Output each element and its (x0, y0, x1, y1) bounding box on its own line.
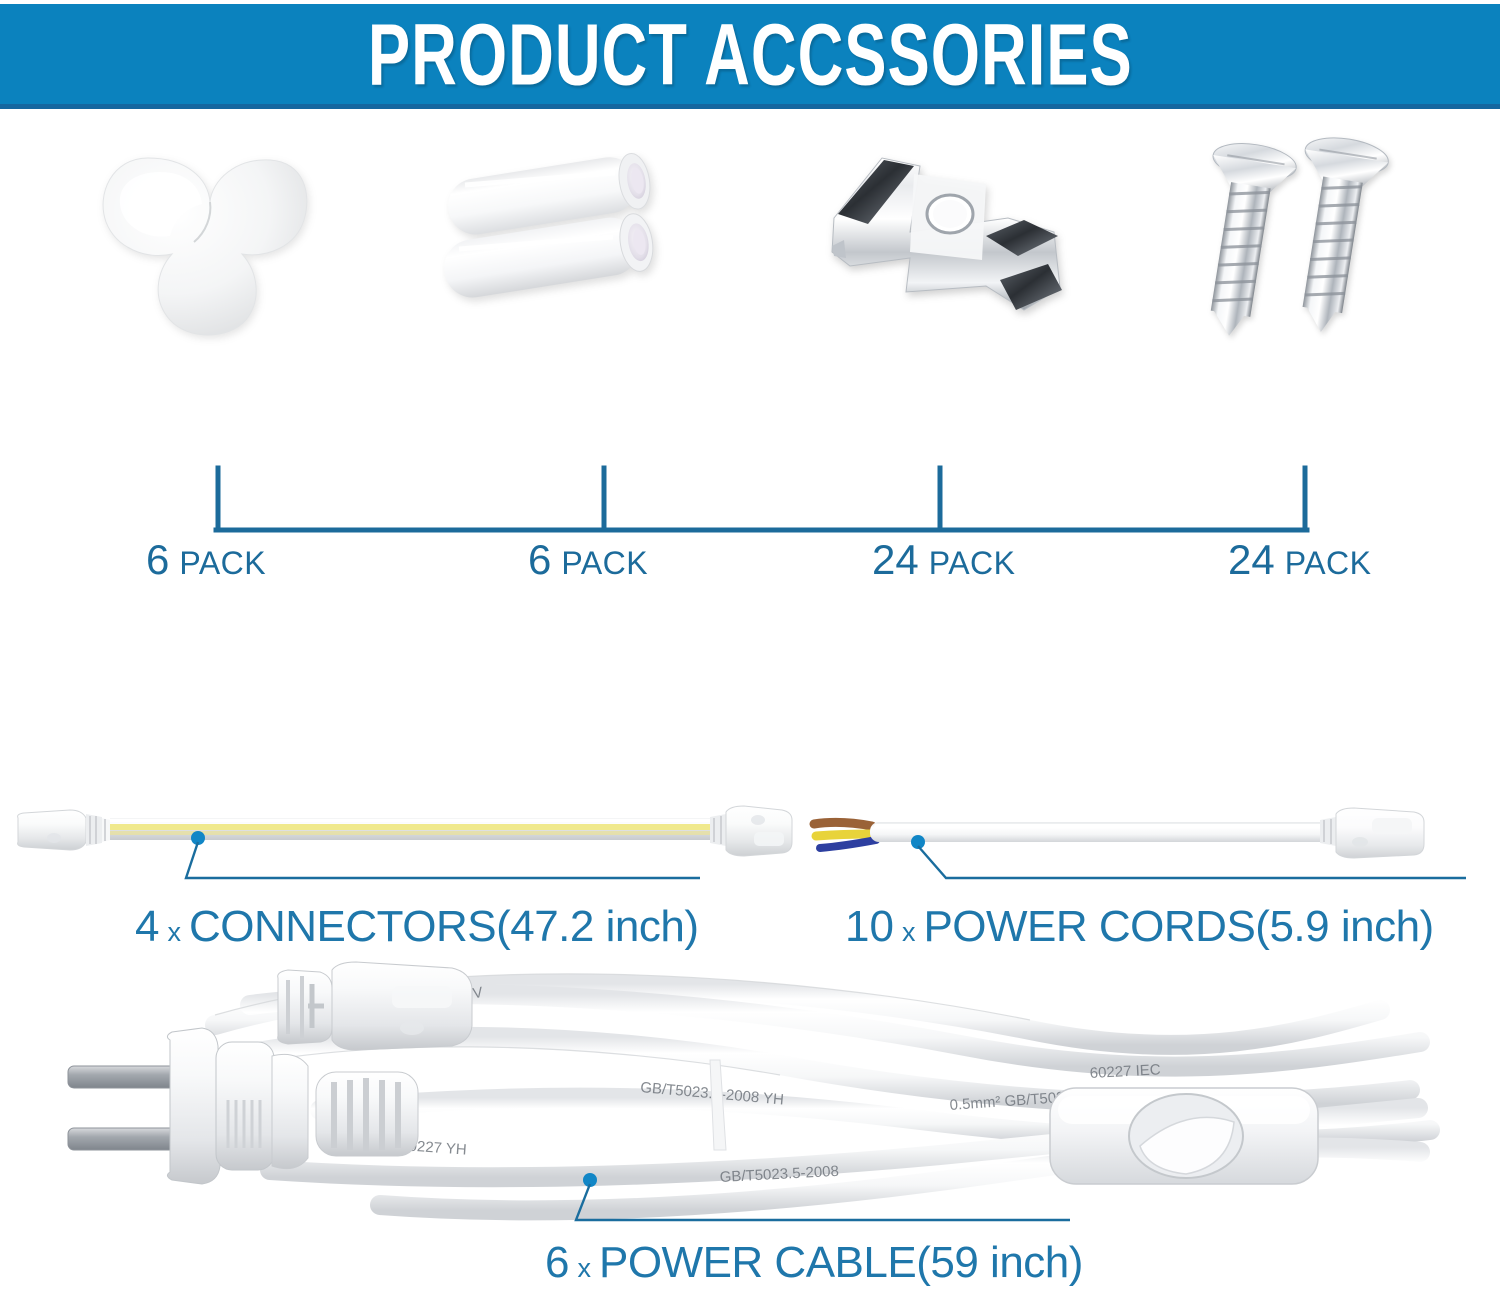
yellow-wire (816, 834, 874, 836)
blue-wire (820, 840, 876, 848)
pack-labels-row: 6 PACK 6 PACK 24 PACK 24 PACK (0, 536, 1500, 596)
connector-head-right (710, 806, 792, 856)
connectors-label: CONNECTORS(47.2 inch) (189, 902, 699, 952)
pack-quantity: 6 (146, 536, 169, 584)
pack-unit: PACK (179, 545, 266, 582)
pack-bracket (0, 460, 1500, 540)
power-cable-icon: 2x0.5mm² 300/300V GB/T5023.5-2008 YH 0.5… (20, 970, 1480, 1230)
bracket-lines-icon (0, 460, 1500, 540)
pack-quantity: 24 (872, 536, 919, 584)
power-cords-multiplier: x (902, 917, 916, 948)
product-accessories-page: PRODUCT ACCSSORIES (0, 0, 1500, 1307)
pack-unit: PACK (929, 545, 1016, 582)
parts-row (0, 125, 1500, 465)
tube-connector-image (435, 125, 765, 455)
part-cell-metal-clip (800, 125, 1130, 455)
pack-label-trefoil-clip: 6 PACK (146, 536, 266, 584)
connector-head-left (18, 810, 110, 850)
power-cord-icon (800, 790, 1490, 900)
trefoil-clip-image (60, 125, 390, 455)
part-cell-trefoil-clip (60, 125, 390, 455)
screws-image (1165, 125, 1495, 455)
trefoil-clip-icon (90, 150, 312, 340)
part-cell-screws (1165, 125, 1495, 455)
connectors-multiplier: x (167, 917, 181, 948)
svg-text:60227 IEC: 60227 IEC (1089, 1061, 1161, 1082)
power-cord-head-right (1320, 808, 1424, 858)
page-title: PRODUCT ACCSSORIES (368, 4, 1133, 104)
cable-row-middle: 4 x CONNECTORS(47.2 inch) 10 x POWER COR… (0, 780, 1500, 960)
metal-clip-image (800, 125, 1130, 455)
strain-relief (316, 1072, 418, 1156)
socket-connectors (278, 962, 472, 1050)
pack-label-metal-clip: 24 PACK (872, 536, 1015, 584)
cable-row-bottom: 2x0.5mm² 300/300V GB/T5023.5-2008 YH 0.5… (0, 960, 1500, 1307)
tube-connector-icon (445, 145, 705, 345)
inline-rocker-switch (1050, 1088, 1318, 1184)
pack-unit: PACK (1285, 545, 1372, 582)
connector-cable-icon (10, 790, 800, 900)
caption-connectors: 4 x CONNECTORS(47.2 inch) (135, 902, 698, 952)
pack-label-tube-connector: 6 PACK (528, 536, 648, 584)
ac-plug (68, 1028, 308, 1184)
connectors-quantity: 4 (135, 902, 159, 952)
power-cords-quantity: 10 (845, 902, 894, 952)
pack-unit: PACK (561, 545, 648, 582)
caption-power-cable: 6 x POWER CABLE(59 inch) (545, 1238, 1083, 1288)
pack-quantity: 6 (528, 536, 551, 584)
power-cords-label: POWER CORDS(5.9 inch) (923, 902, 1433, 952)
power-cable-quantity: 6 (545, 1238, 569, 1288)
screw-icon (1185, 135, 1415, 345)
metal-clip-icon (810, 140, 1070, 340)
pack-label-screws: 24 PACK (1228, 536, 1371, 584)
power-cable-multiplier: x (577, 1253, 591, 1284)
power-cable-label: POWER CABLE(59 inch) (599, 1238, 1083, 1288)
caption-power-cords: 10 x POWER CORDS(5.9 inch) (845, 902, 1434, 952)
header-banner: PRODUCT ACCSSORIES (0, 4, 1500, 109)
pack-quantity: 24 (1228, 536, 1275, 584)
brown-wire (814, 822, 872, 826)
part-cell-tube-connector (435, 125, 765, 455)
